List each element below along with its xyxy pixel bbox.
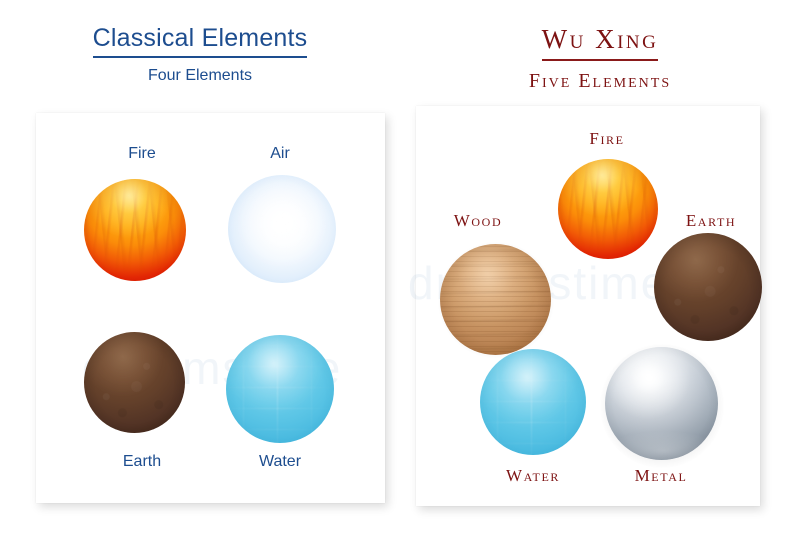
label-earth-wuxing: Earth bbox=[656, 212, 766, 229]
label-air-classical: Air bbox=[220, 146, 340, 162]
label-water-classical: Water bbox=[220, 454, 340, 470]
sphere-wood-wuxing bbox=[440, 244, 551, 355]
sphere-water-classical bbox=[226, 335, 334, 443]
wood-shading-overlay bbox=[440, 244, 551, 355]
sphere-fire-classical bbox=[84, 179, 186, 281]
classical-subtitle: Four Elements bbox=[0, 67, 400, 85]
sphere-fire-wuxing bbox=[558, 159, 658, 259]
sphere-earth-wuxing bbox=[654, 233, 762, 341]
label-water-wuxing: Water bbox=[478, 467, 588, 484]
sphere-metal-wuxing bbox=[605, 347, 718, 460]
fire-shading-overlay bbox=[84, 179, 186, 281]
label-wood-wuxing: Wood bbox=[423, 212, 533, 229]
earth-shading-overlay bbox=[654, 233, 762, 341]
wuxing-group: Wu Xing Five Elements dreamstime Fire Wo… bbox=[400, 0, 800, 541]
sphere-water-wuxing bbox=[480, 349, 586, 455]
wuxing-panel: dreamstime Fire Wood Earth Water bbox=[416, 106, 760, 506]
metal-shading-overlay bbox=[605, 347, 718, 460]
label-fire-wuxing: Fire bbox=[552, 130, 662, 147]
classical-title: Classical Elements bbox=[93, 24, 308, 58]
water-shading-overlay bbox=[480, 349, 586, 455]
classical-panel: dreamstime Fire Air Earth Water bbox=[36, 113, 385, 503]
classical-elements-group: Classical Elements Four Elements dreamst… bbox=[0, 0, 400, 541]
label-fire-classical: Fire bbox=[82, 146, 202, 162]
wuxing-subtitle: Five Elements bbox=[400, 70, 800, 93]
label-metal-wuxing: Metal bbox=[606, 467, 716, 484]
label-earth-classical: Earth bbox=[82, 454, 202, 470]
sphere-air-classical bbox=[228, 175, 336, 283]
wuxing-title: Wu Xing bbox=[542, 24, 659, 61]
air-shading-overlay bbox=[228, 175, 336, 283]
sphere-earth-classical bbox=[84, 332, 185, 433]
water-shading-overlay bbox=[226, 335, 334, 443]
classical-title-block: Classical Elements Four Elements bbox=[0, 24, 400, 85]
fire-shading-overlay bbox=[558, 159, 658, 259]
wuxing-title-block: Wu Xing Five Elements bbox=[400, 24, 800, 93]
earth-shading-overlay bbox=[84, 332, 185, 433]
